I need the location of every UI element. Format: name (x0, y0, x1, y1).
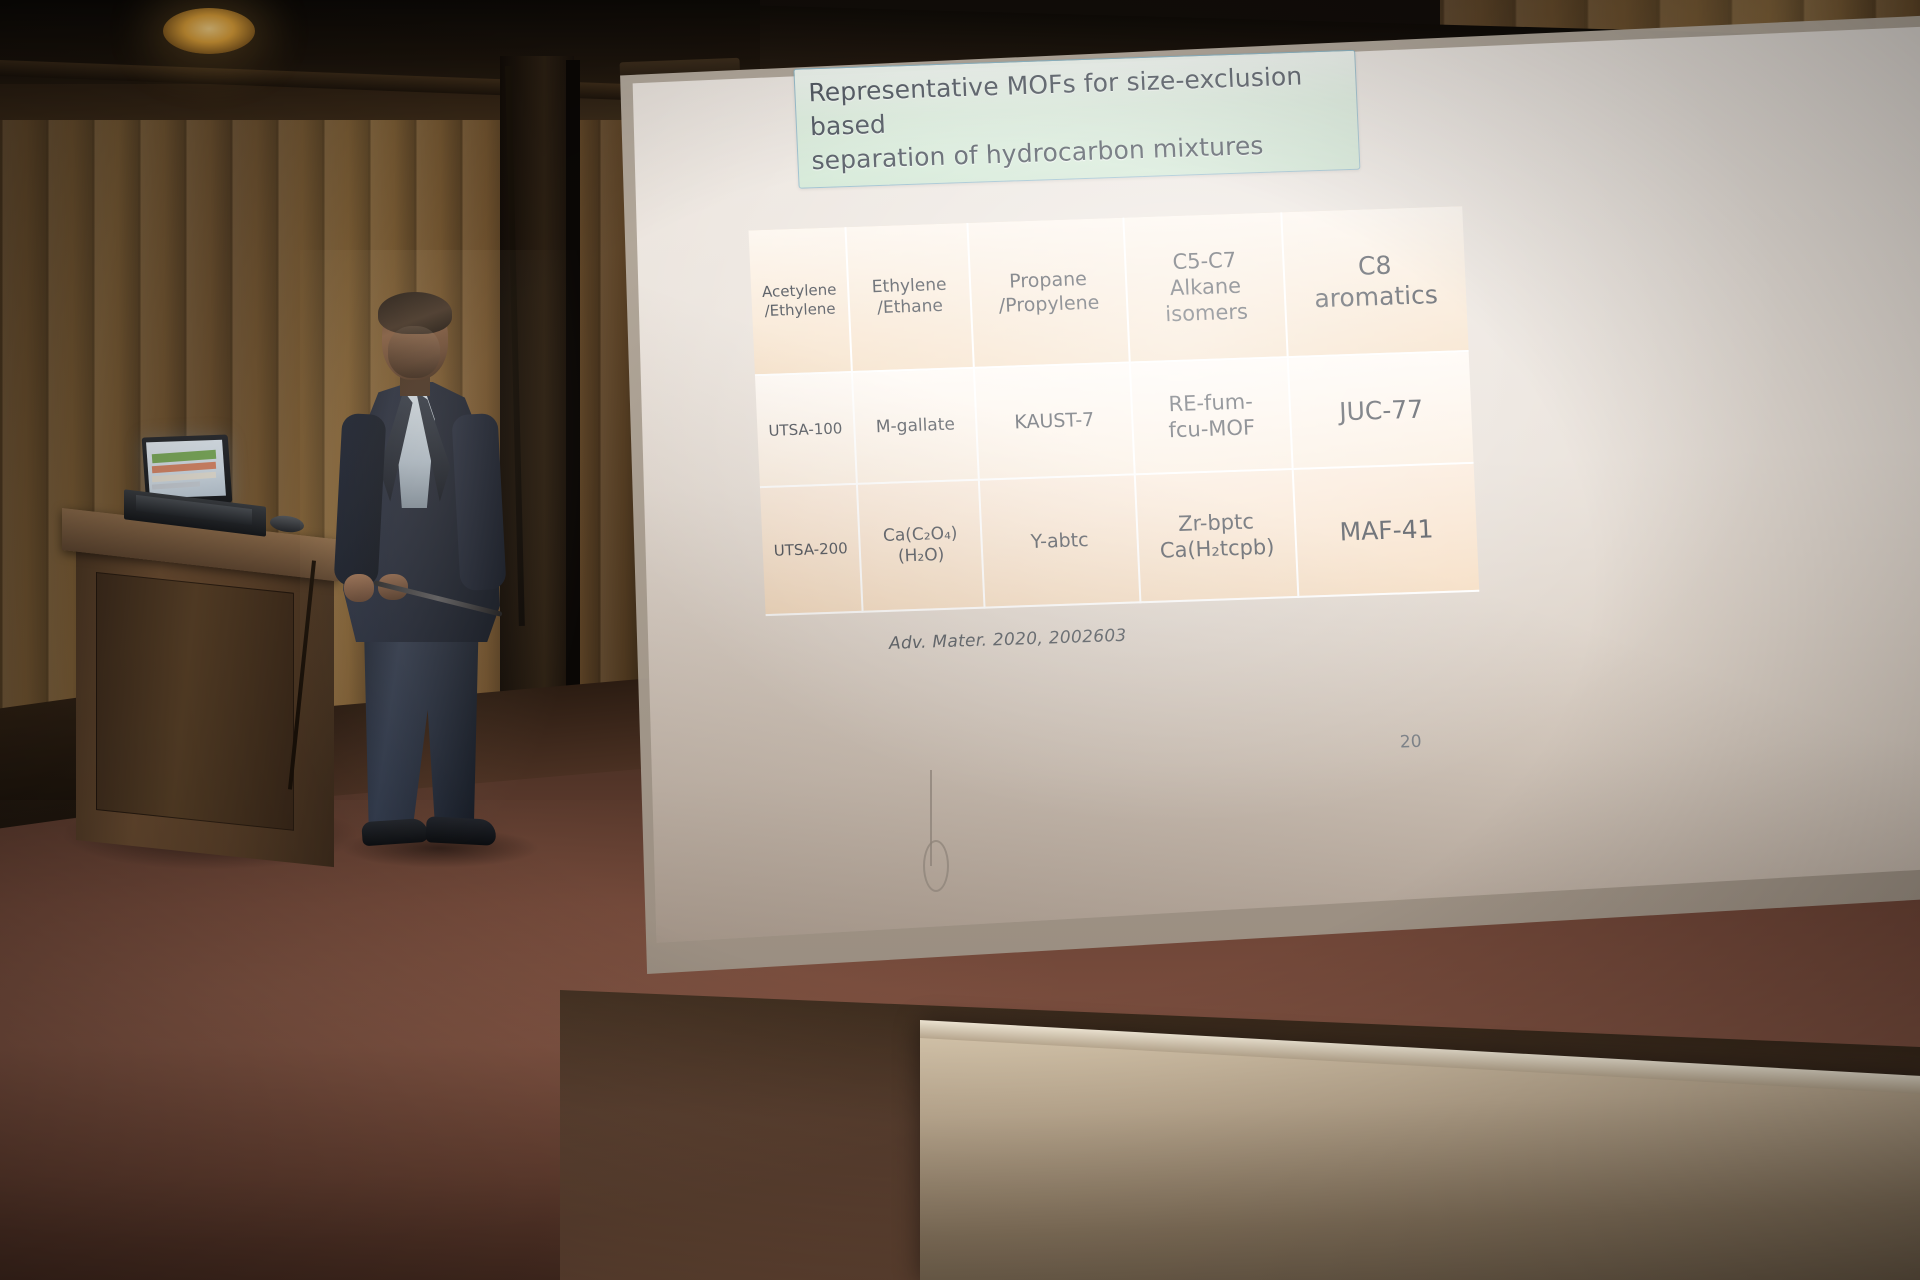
table-cell-zr-bptc-ca-h2tcpb: Zr-bptc Ca(H₂tcpb) (1135, 469, 1299, 602)
slide-title: Representative MOFs for size-exclusion b… (808, 58, 1352, 178)
header-line-2: aromatics (1287, 278, 1464, 315)
table-row: UTSA-200 Ca(C₂O₄)(H₂O) Y-abtc Zr-bptc Ca… (760, 463, 1479, 615)
presenter (330, 296, 520, 852)
screen-pull-cord-loop (923, 840, 949, 892)
slide-citation: Adv. Mater. 2020, 2002603 (889, 626, 1127, 654)
cell-line-1: UTSA-200 (764, 538, 857, 560)
header-line-3: isomers (1130, 297, 1283, 328)
table-header-cell-propane-propylene: Propane /Propylene (967, 218, 1129, 368)
header-line-2: /Ethane (852, 295, 969, 320)
table-header-cell-ethylene-ethane: Ethylene /Ethane (845, 223, 973, 372)
projected-slide: Representative MOFs for size-exclusion b… (700, 14, 1492, 759)
presenter-trousers (356, 614, 484, 832)
table-header-row: Acetylene /Ethylene Ethylene /Ethane Pro… (749, 206, 1469, 375)
slide-page-number: 20 (1400, 732, 1423, 753)
table-cell-calcium-oxalate-hydrate: Ca(C₂O₄)(H₂O) (857, 480, 985, 612)
table-cell-kaust-7: KAUST-7 (974, 363, 1135, 480)
presentation-room-photo: Representative MOFs for size-exclusion b… (0, 0, 1920, 1280)
cell-line-2: fcu-MOF (1135, 413, 1288, 444)
presenter-face (388, 326, 440, 378)
table-cell-maf-41: MAF-41 (1293, 463, 1480, 597)
header-line-2: /Ethylene (754, 299, 847, 321)
podium-front-panel (96, 572, 294, 831)
table-header-cell-c8-aromatics: C8 aromatics (1281, 206, 1468, 357)
cell-line-1: UTSA-100 (759, 419, 852, 441)
cell-line-1: Y-abtc (984, 526, 1135, 555)
cell-line-1: Ca(C₂O₄)(H₂O) (862, 523, 980, 569)
table-cell-y-abtc: Y-abtc (979, 474, 1141, 607)
table-cell-m-gallate: M-gallate (852, 368, 979, 484)
cell-line-1: KAUST-7 (979, 407, 1130, 436)
cell-line-1: JUC-77 (1292, 392, 1469, 429)
table-header-cell-c5-c7-alkane-isomers: C5-C7 Alkane isomers (1123, 212, 1287, 362)
presenter-shoe-left (361, 818, 429, 847)
table-header-cell-acetylene-ethylene: Acetylene /Ethylene (749, 227, 852, 375)
ceiling-light-icon (163, 8, 255, 54)
presenter-shoe-right (425, 816, 496, 846)
header-line-2: /Propylene (974, 290, 1125, 319)
mof-table: Acetylene /Ethylene Ethylene /Ethane Pro… (749, 206, 1480, 616)
table-cell-utsa-200: UTSA-200 (760, 484, 863, 615)
presenter-hand-left (344, 574, 374, 602)
presenter-arm-right (451, 413, 506, 591)
cell-line-2: Ca(H₂tcpb) (1141, 533, 1294, 564)
presenter-arm-left (334, 413, 387, 587)
table-cell-re-fum-fcu-mof: RE-fum- fcu-MOF (1130, 357, 1293, 474)
table-cell-utsa-100: UTSA-100 (755, 372, 857, 487)
cell-line-1: M-gallate (857, 413, 974, 438)
cell-line-1: MAF-41 (1298, 511, 1475, 548)
table-cell-juc-77: JUC-77 (1288, 351, 1474, 469)
